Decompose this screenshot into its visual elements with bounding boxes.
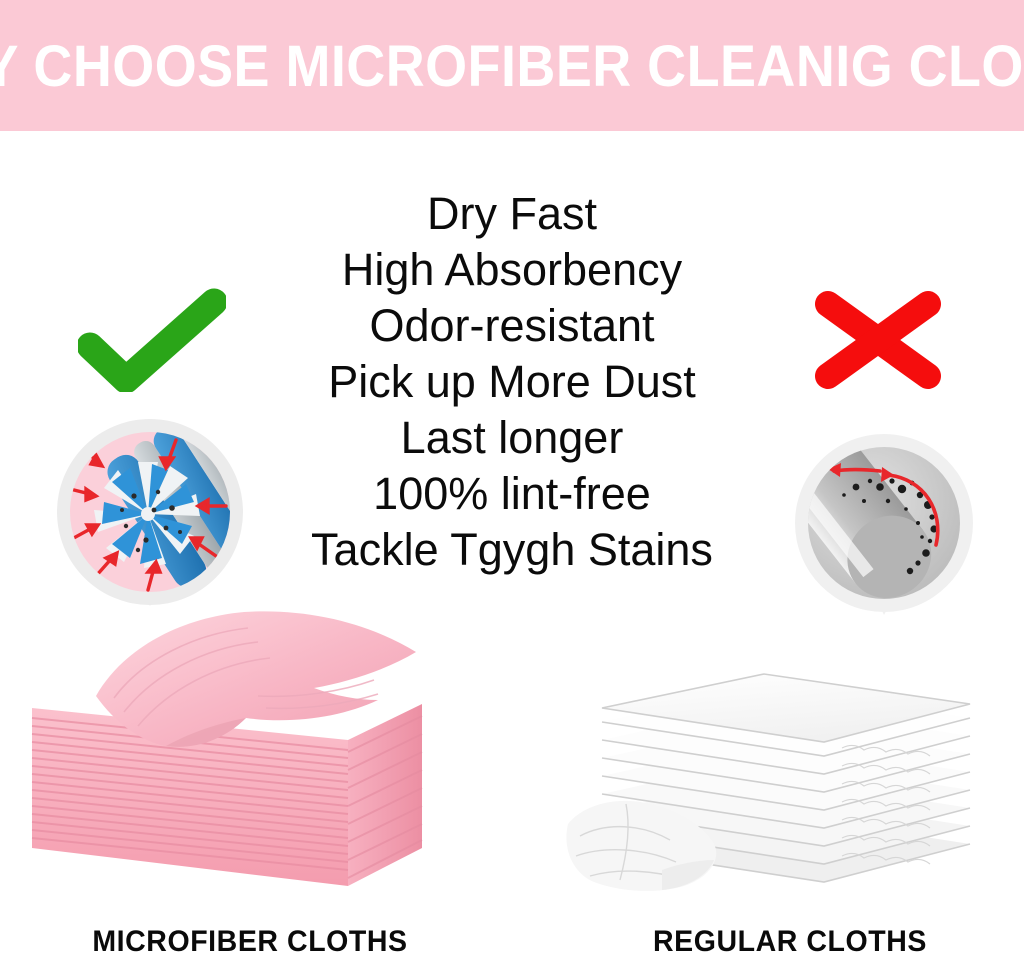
benefits-list: Dry Fast High Absorbency Odor-resistant … xyxy=(262,186,762,578)
red-cross-icon xyxy=(808,290,948,390)
benefit-item: Last longer xyxy=(262,410,762,466)
benefit-item: High Absorbency xyxy=(262,242,762,298)
microfiber-cloths-caption: MICROFIBER CLOTHS xyxy=(13,925,488,959)
benefit-item: Odor-resistant xyxy=(262,298,762,354)
white-regular-cloth-stack xyxy=(566,598,1018,903)
benefit-item: Dry Fast xyxy=(262,186,762,242)
benefit-item: Pick up More Dust xyxy=(262,354,762,410)
green-check-icon xyxy=(78,288,226,392)
regular-cloths-caption: REGULAR CLOTHS xyxy=(572,925,1009,959)
benefit-item: Tackle Tgygh Stains xyxy=(262,522,762,578)
pink-microfiber-cloth-stack xyxy=(18,600,466,900)
benefit-item: 100% lint-free xyxy=(262,466,762,522)
page-title: WHY CHOOSE MICROFIBER CLEANIG CLOTHS xyxy=(0,38,1024,96)
header-banner: WHY CHOOSE MICROFIBER CLEANIG CLOTHS xyxy=(0,0,1024,131)
